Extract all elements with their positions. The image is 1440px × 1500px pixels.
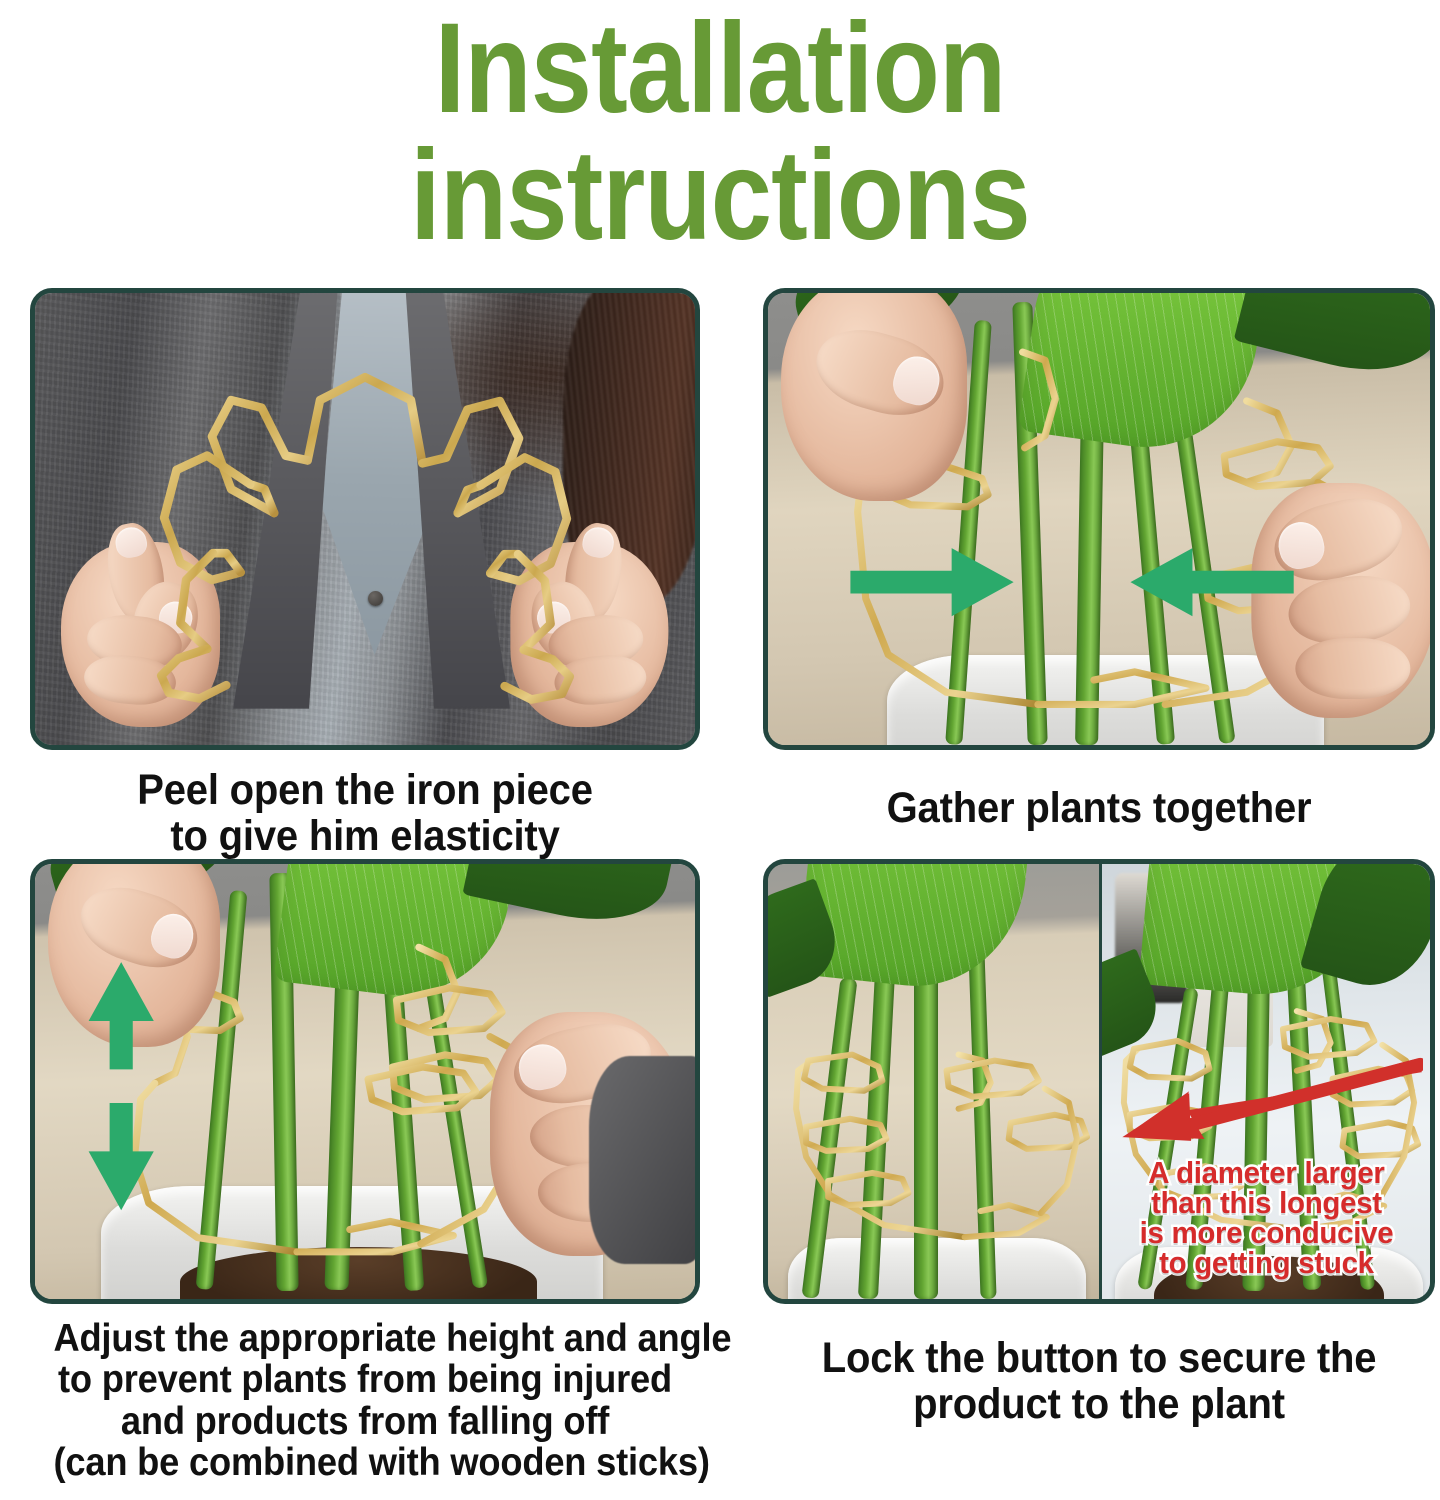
step-1-cell: Peel open the iron piece to give him ela… [0, 288, 740, 859]
warning-line-1: A diameter larger [1116, 1158, 1415, 1188]
step-1-photo [30, 288, 700, 750]
arrow-right-green-icon [847, 546, 1019, 618]
step-4-caption-line-1: Lock the button to secure the [787, 1336, 1412, 1382]
title-line-1: Installation [101, 6, 1339, 133]
warning-line-4: to getting stuck [1116, 1248, 1415, 1278]
arrow-up-down-green-icon [75, 960, 167, 1212]
step-2-photo [763, 288, 1435, 750]
step-4-photo: A diameter larger than this longest is m… [763, 859, 1435, 1304]
step-4-photo-right: A diameter larger than this longest is m… [1099, 864, 1430, 1299]
warning-line-2: than this longest [1116, 1188, 1415, 1218]
gather-plants-scene [768, 293, 1430, 745]
title-line-2: instructions [101, 133, 1339, 260]
step-3-caption-line-2: to prevent plants from being injured [53, 1359, 676, 1400]
step-3-caption-line-1: Adjust the appropriate height and angle [53, 1318, 676, 1359]
arrow-red-diagonal-icon [1109, 1038, 1424, 1160]
step-1-caption: Peel open the iron piece to give him ela… [53, 768, 676, 859]
step-3-cell: Adjust the appropriate height and angle … [0, 859, 740, 1483]
step-2-caption-line-1: Gather plants together [787, 786, 1412, 832]
right-ring-gather [1296, 638, 1411, 699]
step-4-warning-overlay: A diameter larger than this longest is m… [1116, 1158, 1415, 1277]
step-4-caption: Lock the button to secure the product to… [787, 1336, 1412, 1427]
adjust-height-scene [35, 864, 695, 1299]
step-4-cell: A diameter larger than this longest is m… [740, 859, 1440, 1483]
gold-monstera-wire-clip [35, 293, 695, 733]
step-3-caption-line-3: and products from falling off [53, 1401, 676, 1442]
step-3-photo [30, 859, 700, 1304]
warning-line-3: is more conducive [1116, 1218, 1415, 1248]
steps-grid: Peel open the iron piece to give him ela… [0, 288, 1440, 1483]
step-4-photo-left [768, 864, 1099, 1299]
step-2-cell: Gather plants together [740, 288, 1440, 859]
sweater-scene [35, 293, 695, 745]
left-hand-gather [781, 293, 966, 501]
step-4-split-photos: A diameter larger than this longest is m… [768, 864, 1430, 1299]
gold-clip-locked-left [768, 864, 1099, 1299]
step-2-caption: Gather plants together [787, 786, 1412, 832]
page-title: Installation instructions [0, 0, 1440, 259]
gray-sleeve-cuff [589, 1056, 695, 1265]
arrow-left-green-icon [1125, 546, 1297, 618]
step-3-caption-line-4: (can be combined with wooden sticks) [53, 1442, 676, 1483]
step-1-caption-line-2: to give him elasticity [53, 814, 676, 860]
step-3-caption: Adjust the appropriate height and angle … [53, 1318, 676, 1483]
step-1-caption-line-1: Peel open the iron piece [53, 768, 676, 814]
step-4-caption-line-2: product to the plant [787, 1382, 1412, 1428]
